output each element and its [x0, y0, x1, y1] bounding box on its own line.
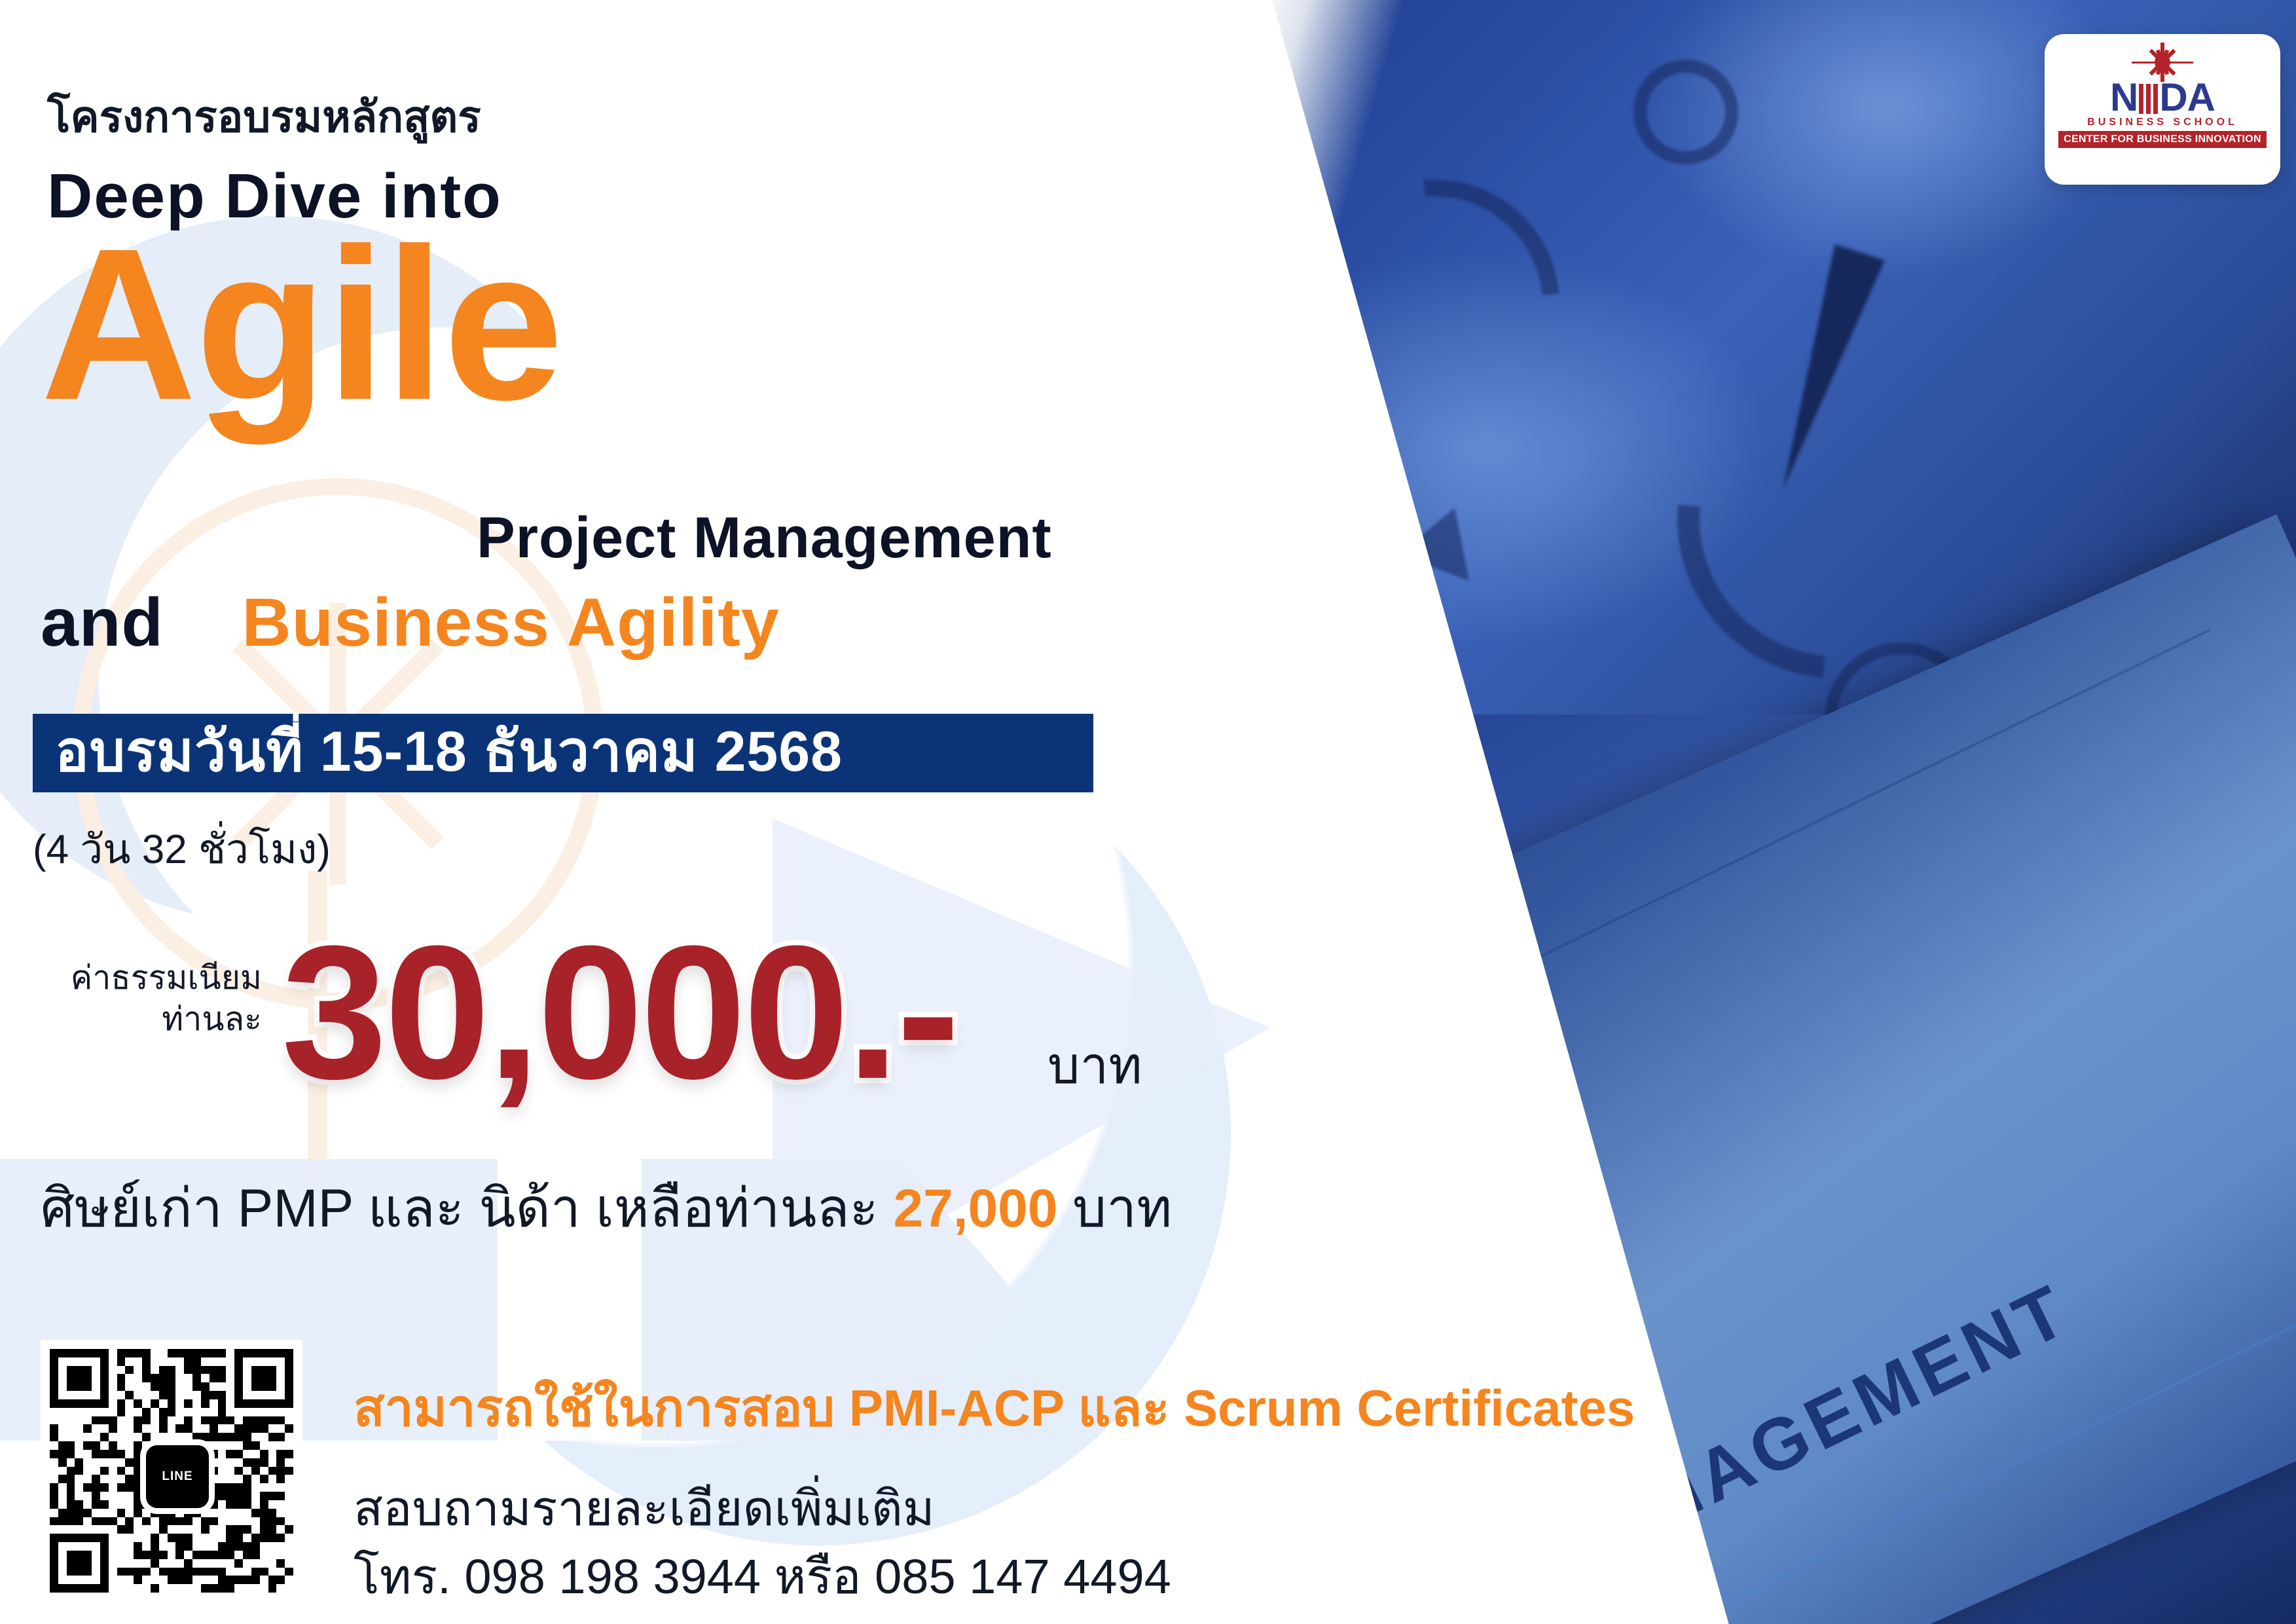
training-duration: (4 วัน 32 ชั่วโมง) — [33, 817, 331, 881]
logo-business-school: BUSINESS SCHOOL — [2087, 117, 2238, 128]
logo-center-banner: CENTER FOR BUSINESS INNOVATION — [2058, 131, 2267, 148]
fee-block: ค่าธรรมเนียม ท่านละ 30,000.- บาท — [39, 923, 1283, 1139]
doodle-arrowhead — [1400, 507, 1497, 604]
fee-label-line-2: ท่านละ — [46, 999, 262, 1040]
logo-letter-n: N — [2110, 79, 2138, 116]
nida-logo: N DA BUSINESS SCHOOL CENTER FOR BUSINESS… — [2045, 34, 2280, 185]
title-line-project-management: Project Management — [477, 504, 1052, 571]
contact-heading: สอบถามรายละเอียดเพิ่มเติม — [354, 1469, 935, 1547]
line-qr-code[interactable]: LINE — [41, 1340, 302, 1602]
fee-label: ค่าธรรมเนียม ท่านละ — [46, 957, 262, 1039]
poster-canvas: BACKLIST Conelogino plaedrons motions vi… — [0, 0, 2296, 1624]
title-and-word: and — [41, 585, 164, 661]
fee-amount: 30,000.- — [282, 904, 957, 1122]
alumni-discount-line: ศิษย์เก่า PMP และ นิด้า เหลือท่านละ 27,0… — [41, 1166, 1172, 1251]
line-logo-icon: LINE — [140, 1439, 215, 1514]
course-kicker: โครงการอบรมหลักสูตร — [47, 83, 481, 151]
alumni-prefix-text: ศิษย์เก่า PMP และ นิด้า เหลือท่านละ — [41, 1179, 894, 1238]
alumni-price: 27,000 — [894, 1179, 1058, 1238]
doodle-circle-small — [1633, 60, 1738, 164]
training-date-text: อบรมวันที่ 15-18 ธันวาคม 2568 — [55, 706, 843, 796]
star-burst-icon — [2131, 42, 2194, 83]
logo-wordmark: N DA — [2110, 79, 2215, 116]
poster-content: โครงการอบรมหลักสูตร Deep Dive into Agile… — [0, 0, 1408, 1624]
title-business-agility-words: Business Agility — [242, 585, 780, 661]
fee-currency-unit: บาท — [1048, 1025, 1142, 1106]
certificate-note: สามารถใช้ในการสอบ PMI-ACP และ Scrum Cert… — [354, 1367, 1635, 1449]
alumni-suffix-text: บาท — [1057, 1179, 1172, 1238]
title-line-business-agility: and Business Agility — [41, 584, 780, 662]
logo-pillar-bars — [2139, 84, 2158, 114]
title-hero-agile: Agile — [41, 216, 562, 432]
training-date-banner: อบรมวันที่ 15-18 ธันวาคม 2568 — [33, 714, 1093, 792]
contact-phones: โทร. 098 198 3944 หรือ 085 147 4494 — [354, 1538, 1171, 1615]
fee-label-line-1: ค่าธรรมเนียม — [46, 957, 262, 999]
logo-letters-da: DA — [2159, 79, 2215, 116]
